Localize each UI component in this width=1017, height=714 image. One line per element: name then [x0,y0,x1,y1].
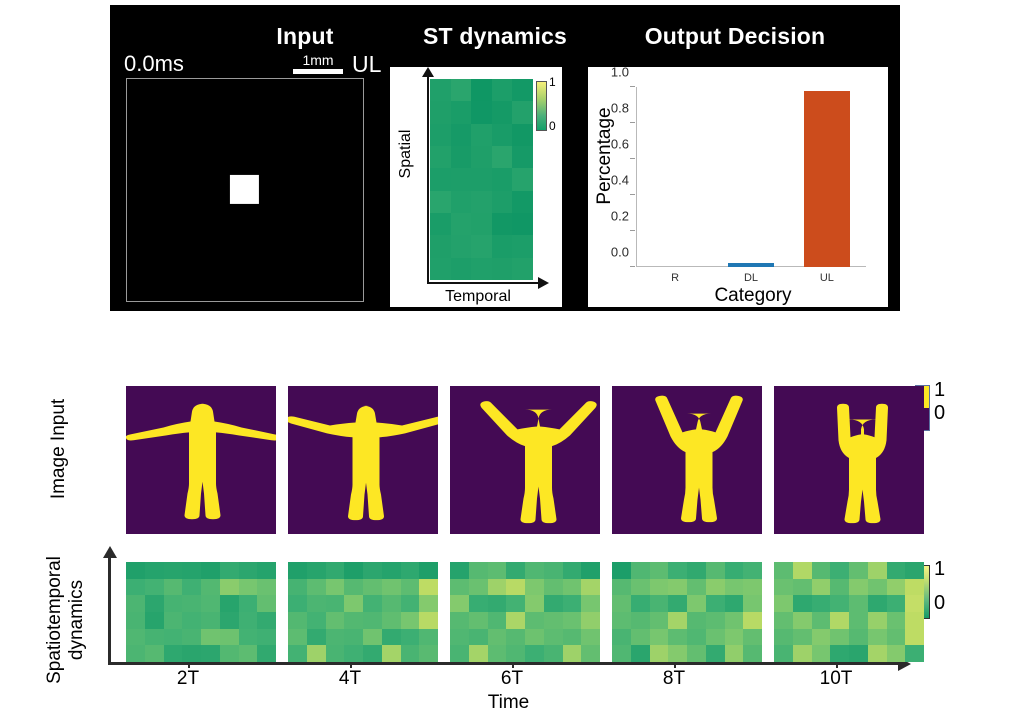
st-sequence-cell [887,612,906,629]
bar-x-axis-label: Category [628,285,878,307]
st-sequence-cell [706,595,725,612]
st-sequence-cell [239,595,258,612]
bar-y-axis-spine [636,87,637,267]
simulation-panel: Input ST dynamics Output Decision 0.0ms … [110,5,900,311]
st-heatmap-cell [451,213,472,235]
st-sequence-cell [363,629,382,646]
bar-x-tick-label: DL [728,272,774,284]
time-tick-label: 8T [663,668,685,690]
st-sequence-cell [774,579,793,596]
st-sequence-cell [288,562,307,579]
st-sequence-cell [668,579,687,596]
st-sequence-cell [544,595,563,612]
st-sequence-cell [363,579,382,596]
st-heatmap-cell [451,101,472,123]
time-axis-line [108,662,900,665]
st-sequence-cell [743,645,762,662]
st-sequence-cell [201,645,220,662]
st-sequence-cell [743,612,762,629]
st-heatmap-cell [430,213,451,235]
st-heatmap-cell [430,235,451,257]
st-sequence-cell [307,562,326,579]
st-sequence-cell [488,562,507,579]
st-sequence-cell [525,612,544,629]
st-sequence-cell [326,595,345,612]
st-sequence-cell [363,595,382,612]
image-input-frame [774,386,924,534]
bar-y-tick-mark [630,86,635,87]
st-sequence-cell [307,645,326,662]
scale-bar-line [293,69,343,74]
st-sequence-heatmap [288,562,438,662]
st-sequence-cell [631,579,650,596]
bar-column[interactable]: DL [728,87,774,267]
st-sequence-cell [612,562,631,579]
st-sequence-cell [725,595,744,612]
st-sequence-cell [830,629,849,646]
st-sequence-cell [220,562,239,579]
st-sequence-cell [164,595,183,612]
st-sequence-cell [706,579,725,596]
st-sequence-cell [830,579,849,596]
st-sequence-cell [743,579,762,596]
st-heatmap-cell [451,124,472,146]
st-sequence-cell [793,562,812,579]
st-sequence-cell [612,612,631,629]
st-sequence-cell [126,645,145,662]
st-sequence-cell [344,562,363,579]
st-sequence-cell [650,629,669,646]
st-heatmap-cell [451,168,472,190]
st-heatmap-cell [492,124,513,146]
st-x-axis-label: Temporal [418,288,538,306]
scale-bar-label: 1mm [287,53,349,68]
st-sequence-cell [706,645,725,662]
bar-y-tick-label: 0.6 [611,137,629,152]
st-dynamics-row-label: Spatiotemporaldynamics [44,530,88,710]
st-sequence-cell [239,629,258,646]
st-sequence-cell [868,562,887,579]
st-sequence-cell [164,562,183,579]
panel-title-output-decision: Output Decision [610,23,860,50]
st-sequence-cell [812,595,831,612]
st-sequence-cell [581,562,600,579]
st-sequence-cell [257,595,276,612]
st-sequence-cell [725,645,744,662]
st-sequence-cell [725,612,744,629]
st-sequence-cell [905,579,924,596]
st-heatmap-cell [430,79,451,101]
st-sequence-cell [239,612,258,629]
st-sequence-cell [581,629,600,646]
st-sequence-cell [905,629,924,646]
st-heatmap-cell [512,79,533,101]
st-sequence-cell [450,629,469,646]
st-sequence-cell [650,645,669,662]
st-heatmap-cell [471,235,492,257]
st-sequence-cell [469,645,488,662]
st-sequence-cell [145,645,164,662]
image-input-frame [450,386,600,534]
st-heatmap-cell [512,213,533,235]
st-sequence-cell [868,612,887,629]
st-sequence-cell [401,562,420,579]
st-colorbar [536,81,547,131]
st-sequence-cell [830,612,849,629]
st-sequence-cell [743,595,762,612]
st-sequence-cell [450,645,469,662]
st-y-axis-label: Spatial [397,106,415,202]
st-sequence-cell [126,579,145,596]
st-sequence-cell [687,645,706,662]
st-heatmap-cell [451,191,472,213]
st-sequence-cell [563,579,582,596]
image-input-frame [126,386,276,534]
st-sequence-cell [868,629,887,646]
st-sequence-cell [887,562,906,579]
st-sequence-cell [164,645,183,662]
st-heatmap-cell [451,235,472,257]
st-sequence-cell [450,612,469,629]
st-sequence-cell [326,579,345,596]
st-sequence-cell [126,629,145,646]
st-sequence-cell [525,645,544,662]
st-sequence-cell [905,645,924,662]
st-sequence-cell [382,645,401,662]
st-sequence-cell [126,612,145,629]
bar-y-tick-mark [630,266,635,267]
st-heatmap-cell [430,146,451,168]
bar-y-tick-label: 0.2 [611,209,629,224]
st-heatmap-cell [492,235,513,257]
st-sequence-cell [668,612,687,629]
st-sequence-cell [812,579,831,596]
st-sequence-cell [419,595,438,612]
st-sequence-cell [401,612,420,629]
st-sequence-cell [581,645,600,662]
bar-column[interactable]: R [652,87,698,267]
st-sequence-cell [450,562,469,579]
st-sequence-cell [382,629,401,646]
st-sequence-cell [488,595,507,612]
st-sequence-cell [182,612,201,629]
st-dynamics-plot: Spatial Temporal 1 0 [390,67,562,307]
st-heatmap-cell [451,146,472,168]
st-sequence-cell [288,612,307,629]
st-sequence-cell [288,645,307,662]
bar-y-tick-mark [630,194,635,195]
st-sequence-cell [725,579,744,596]
st-sequence-cell [239,645,258,662]
st-sequence-cell [506,645,525,662]
st-sequence-cell [544,645,563,662]
st-sequence-cell [868,595,887,612]
st-sequence-cell [544,612,563,629]
st-sequence-cell [382,612,401,629]
st-sequence-cell [849,612,868,629]
st-heatmap-cell [512,258,533,280]
st-sequence-cell [257,629,276,646]
st-sequence-cell [201,579,220,596]
st-sequence-heatmap [450,562,600,662]
st-sequence-cell [581,612,600,629]
st-sequence-cell [288,579,307,596]
st-sequence-cell [201,595,220,612]
st-heatmap-cell [430,168,451,190]
st-sequence-cell [812,645,831,662]
st-colorbar-max-label: 1 [549,75,556,89]
st-sequence-cell [488,612,507,629]
bar-y-tick-mark [630,158,635,159]
st-sequence-cell [812,629,831,646]
image-colorbar-min-label: 0 [934,402,945,425]
st-heatmap-cell [471,101,492,123]
st-heatmap-cell [512,124,533,146]
bar-x-tick-label: UL [804,272,850,284]
time-tick-label: 6T [501,668,523,690]
st-sequence-cell [469,595,488,612]
st-sequence-cell [743,629,762,646]
st-sequence-cell [631,629,650,646]
input-metadata: 0.0ms 1mm UL [124,51,374,81]
bar-rect [728,263,774,267]
st-sequence-cell [201,629,220,646]
st-sequence-cell [725,562,744,579]
st-dynamics-heatmap [430,79,533,280]
bar-column[interactable]: UL [804,87,850,267]
st-sequence-cell [563,612,582,629]
image-input-frame [612,386,762,534]
st-sequence-cell [469,629,488,646]
st-heatmap-cell [492,79,513,101]
st-sequence-cell [506,595,525,612]
st-sequence-cell [419,645,438,662]
st-sequence-cell [419,629,438,646]
st-sequence-cell [164,579,183,596]
st-sequence-cell [706,612,725,629]
st-sequence-cell [401,629,420,646]
st-sequence-cell [344,595,363,612]
st-sequence-cell [450,595,469,612]
st-sequence-cell [706,562,725,579]
st-sequence-cell [887,579,906,596]
st-sequence-cell [793,645,812,662]
st-sequence-cell [326,562,345,579]
st-sequence-cell [344,579,363,596]
st-sequence-cell [450,579,469,596]
st-heatmap-cell [471,258,492,280]
image-input-frame [288,386,438,534]
st-sequence-cell [525,629,544,646]
st-sequence-cell [849,629,868,646]
st-x-axis-arrow-icon [538,277,549,289]
st-sequence-cell [220,595,239,612]
st-sequence-cell [382,562,401,579]
st-sequence-cell [419,562,438,579]
st-sequence-cell [469,562,488,579]
st-colorbar-min-label: 0 [549,119,556,133]
st-sequence-cell [257,579,276,596]
st-heatmap-cell [492,101,513,123]
st-heatmap-cell [430,101,451,123]
scale-bar: 1mm [287,53,349,74]
st-sequence-cell [612,595,631,612]
st-sequence-cell [363,612,382,629]
st-sequence-cell [793,612,812,629]
st-sequence-cell [344,629,363,646]
st-sequence-cell [307,579,326,596]
st-sequence-cell [326,612,345,629]
st-sequence-cell [830,562,849,579]
st-sequence-cell [201,612,220,629]
st-sequence-cell [145,595,164,612]
st-x-axis-line [427,282,542,284]
st-sequence-cell [563,629,582,646]
st-sequence-cell [849,645,868,662]
st-sequence-cell [506,612,525,629]
st-sequence-cell [164,612,183,629]
st-sequence-cell [631,645,650,662]
st-sequence-cell [868,579,887,596]
st-heatmap-cell [451,258,472,280]
st-sequence-cell [631,562,650,579]
st-sequence-cell [326,629,345,646]
st-heatmap-cell [512,101,533,123]
time-axis-label: Time [0,692,1017,714]
st-heatmap-cell [492,191,513,213]
st-heatmap-cell [492,213,513,235]
input-class-label: UL [352,50,381,78]
st-heatmap-cell [471,79,492,101]
st-sequence-cell [774,645,793,662]
time-tick-label: 10T [820,668,853,690]
time-tick-label: 2T [177,668,199,690]
st-sequence-cell [687,595,706,612]
st-sequence-cell [830,645,849,662]
st-sequence-cell [793,579,812,596]
st-sequence-cell [544,579,563,596]
st-heatmap-cell [471,168,492,190]
st-heatmap-cell [430,191,451,213]
st-heatmap-cell [512,168,533,190]
st-sequence-cell [687,629,706,646]
st-heatmap-cell [430,258,451,280]
st-sequence-cell [668,629,687,646]
st-sequence-cell [182,645,201,662]
st-sequence-cell [469,612,488,629]
st-sequence-cell [363,645,382,662]
st-sequence-cell [257,612,276,629]
st-sequence-cell [563,562,582,579]
st-sequence-cell [401,579,420,596]
st-sequence-cell [525,579,544,596]
st-sequence-heatmap [126,562,276,662]
st-sequence-cell [220,645,239,662]
st-sequence-cell [650,612,669,629]
st-sequence-cell [145,579,164,596]
image-input-row-label: Image Input [48,384,70,514]
st-sequence-cell [905,612,924,629]
st-sequence-cell [525,595,544,612]
st-sequence-cell [326,645,345,662]
st-sequence-cell [687,562,706,579]
st-sequence-cell [631,595,650,612]
st-sequence-cell [544,629,563,646]
st-sequence-cell [182,579,201,596]
st-sequence-cell [650,595,669,612]
st-sequence-cell [905,595,924,612]
st-sequence-cell [201,562,220,579]
time-y-axis-arrow-icon [103,546,117,558]
st-sequence-cell [182,595,201,612]
st-sequence-cell [868,645,887,662]
st-sequence-cell [793,595,812,612]
bar-y-tick-label: 0.4 [611,173,629,188]
st-sequence-cell [849,595,868,612]
st-sequence-cell [774,612,793,629]
st-sequence-cell [126,562,145,579]
st-sequence-cell [849,562,868,579]
st-heatmap-cell [471,213,492,235]
st-heatmap-cell [451,79,472,101]
st-sequence-cell [506,562,525,579]
st-sequence-cell [307,595,326,612]
st-sequence-cell [344,645,363,662]
st-heatmap-cell [512,235,533,257]
st-sequence-cell [419,579,438,596]
st-sequence-cell [774,629,793,646]
st-sequence-cell [488,645,507,662]
st-sequence-cell [488,579,507,596]
st-y-axis-line [427,75,429,284]
input-image-frame [126,78,364,302]
bar-y-tick-mark [630,122,635,123]
st-heatmap-cell [471,124,492,146]
st-sequence-cell [401,595,420,612]
st-sequence-cell [145,612,164,629]
st-sequence-cell [239,579,258,596]
st-sequence-cell [812,562,831,579]
st-sequence-cell [145,629,164,646]
st-sequence-cell [581,595,600,612]
bar-y-tick-label: 0.0 [611,245,629,260]
st-sequence-cell [220,579,239,596]
st-sequence-cell [887,629,906,646]
panel-title-st-dynamics: ST dynamics [400,23,590,50]
st-sequence-cell [382,579,401,596]
st-sequence-colorbar-max-label: 1 [934,558,945,581]
st-sequence-cell [581,579,600,596]
st-sequence-cell [668,645,687,662]
st-sequence-cell [650,562,669,579]
bar-x-tick-label: R [652,272,698,284]
st-sequence-cell [725,629,744,646]
st-heatmap-cell [492,168,513,190]
st-sequence-cell [612,579,631,596]
st-sequence-cell [830,595,849,612]
panel-title-input: Input [240,23,370,50]
st-sequence-cell [525,562,544,579]
st-sequence-cell [382,595,401,612]
st-sequence-cell [563,595,582,612]
st-sequence-heatmap [612,562,762,662]
time-plot-y-axis [108,556,111,665]
st-sequence-cell [812,612,831,629]
st-sequence-cell [257,562,276,579]
st-sequence-cell [220,629,239,646]
st-sequence-cell [887,645,906,662]
st-sequence-cell [793,629,812,646]
